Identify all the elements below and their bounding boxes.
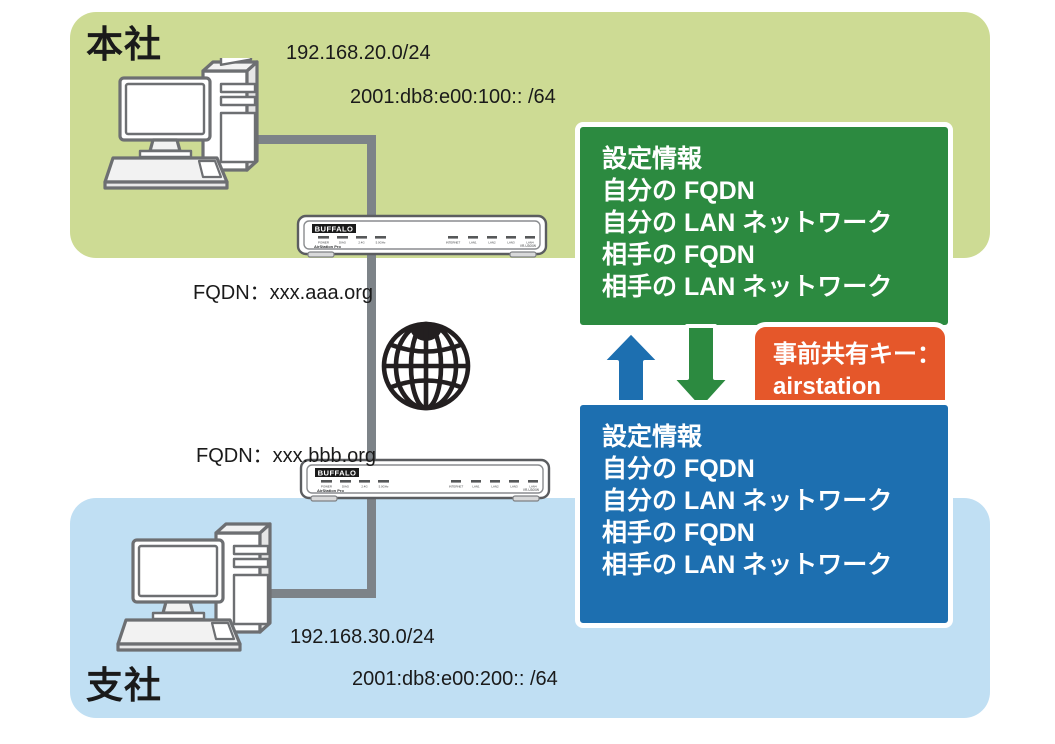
hq-settings-line: 自分の FQDN — [602, 175, 948, 207]
desktop-computer-icon — [108, 520, 278, 672]
branch-settings-line: 自分の FQDN — [602, 453, 948, 485]
hq-settings-title: 設定情報 — [602, 143, 948, 175]
svg-text:VR-U300W: VR-U300W — [520, 244, 536, 248]
svg-text:AirStation Pro: AirStation Pro — [317, 488, 344, 493]
svg-text:LAN2: LAN2 — [491, 484, 499, 488]
svg-text:BUFFALO: BUFFALO — [318, 469, 357, 478]
branch-settings-title: 設定情報 — [602, 421, 948, 453]
svg-text:AirStation Pro: AirStation Pro — [314, 244, 341, 249]
branch-ipv4-subnet: 192.168.30.0/24 — [290, 626, 435, 649]
arrow-down-icon — [668, 324, 734, 412]
svg-text:INTERNET: INTERNET — [446, 240, 461, 244]
globe-icon — [380, 320, 472, 412]
hq-settings-panel: 設定情報 自分の FQDN 自分の LAN ネットワーク 相手の FQDN 相手… — [575, 122, 953, 330]
svg-text:2.4G: 2.4G — [361, 484, 368, 488]
pre-shared-key-label: 事前共有キー： — [773, 339, 945, 371]
pre-shared-key-value: airstation — [773, 371, 945, 403]
branch-settings-line: 自分の LAN ネットワーク — [602, 485, 948, 517]
branch-settings-line: 相手の FQDN — [602, 517, 948, 549]
svg-text:BUFFALO: BUFFALO — [315, 225, 354, 234]
svg-text:LAN3: LAN3 — [510, 484, 518, 488]
branch-office-label: 支社 — [86, 655, 162, 709]
branch-settings-line: 相手の LAN ネットワーク — [602, 549, 948, 581]
svg-text:INTERNET: INTERNET — [449, 484, 464, 488]
head-office-label: 本社 — [86, 14, 162, 68]
hq-lan-cable-horizontal — [258, 135, 376, 144]
hq-ipv4-subnet: 192.168.20.0/24 — [286, 42, 431, 65]
svg-text:LAN1: LAN1 — [472, 484, 480, 488]
svg-text:LAN2: LAN2 — [488, 240, 496, 244]
desktop-computer-icon — [95, 58, 265, 210]
hq-settings-line: 自分の LAN ネットワーク — [602, 207, 948, 239]
router-icon: BUFFALO POWER DIAG 2.4G 5.0GHz INTERNET … — [296, 213, 548, 265]
branch-fqdn-label: FQDN：xxx.bbb.org — [196, 439, 376, 468]
hq-settings-line: 相手の FQDN — [602, 239, 948, 271]
network-diagram: BUFFALO POWER DIAG 2.4G 5.0GHz INTERNET … — [0, 0, 1055, 744]
svg-text:5.0GHz: 5.0GHz — [379, 484, 389, 488]
hq-settings-line: 相手の LAN ネットワーク — [602, 271, 948, 303]
branch-settings-panel: 設定情報 自分の FQDN 自分の LAN ネットワーク 相手の FQDN 相手… — [575, 400, 953, 628]
svg-text:LAN1: LAN1 — [469, 240, 477, 244]
svg-text:5.0GHz: 5.0GHz — [376, 240, 386, 244]
hq-fqdn-label: FQDN：xxx.aaa.org — [193, 276, 373, 305]
branch-ipv6-prefix: 2001:db8:e00:200:: /64 — [352, 668, 558, 691]
hq-ipv6-prefix: 2001:db8:e00:100:: /64 — [350, 86, 556, 109]
svg-text:2.4G: 2.4G — [358, 240, 365, 244]
svg-text:VR-U300W: VR-U300W — [523, 488, 539, 492]
svg-text:LAN3: LAN3 — [507, 240, 515, 244]
